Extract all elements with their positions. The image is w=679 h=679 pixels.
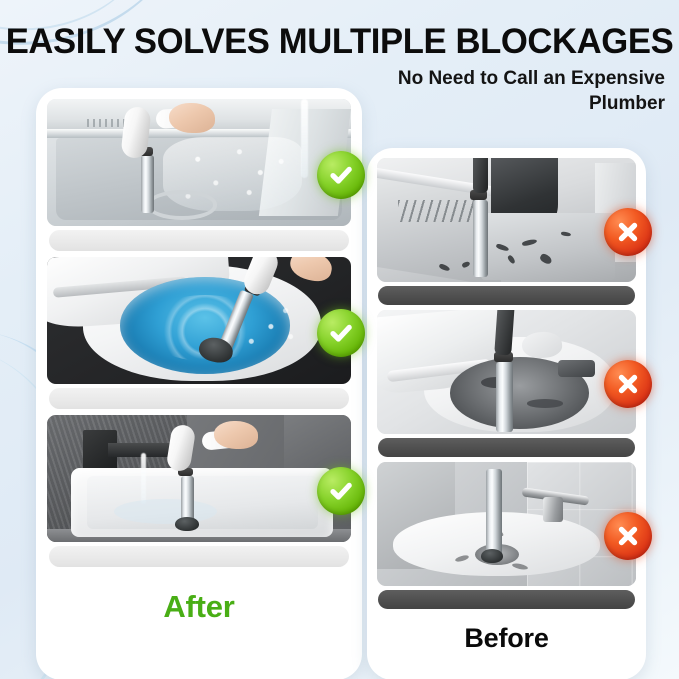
before-photo-toilet: [377, 310, 636, 434]
before-photo-kitchen-sink: [377, 158, 636, 282]
before-panel-kitchen-sink: [377, 158, 636, 305]
after-panel-kitchen-sink: [47, 99, 351, 251]
before-shelf-2: [378, 438, 634, 457]
page-title: EASILY SOLVES MULTIPLE BLOCKAGES: [3, 22, 675, 62]
after-panel-toilet: [47, 257, 351, 409]
after-shelf-1: [49, 230, 350, 251]
after-label: After: [47, 589, 351, 625]
before-shelf-1: [378, 286, 634, 305]
check-icon: [317, 467, 365, 515]
cross-icon: [604, 512, 652, 560]
after-card: After: [36, 88, 362, 679]
before-card: Before: [367, 148, 646, 679]
before-shelf-3: [378, 590, 634, 609]
after-shelf-2: [49, 388, 350, 409]
cross-icon: [604, 360, 652, 408]
check-icon: [317, 151, 365, 199]
before-panel-basin: [377, 462, 636, 609]
check-icon: [317, 309, 365, 357]
after-shelf-3: [49, 546, 350, 567]
after-photo-basin: [47, 415, 351, 542]
cross-icon: [604, 208, 652, 256]
after-photo-kitchen-sink: [47, 99, 351, 226]
after-photo-toilet: [47, 257, 351, 384]
after-panel-basin: [47, 415, 351, 567]
before-photo-basin: [377, 462, 636, 586]
infographic-canvas: EASILY SOLVES MULTIPLE BLOCKAGES No Need…: [0, 0, 679, 679]
before-panel-toilet: [377, 310, 636, 457]
before-label: Before: [377, 623, 636, 654]
